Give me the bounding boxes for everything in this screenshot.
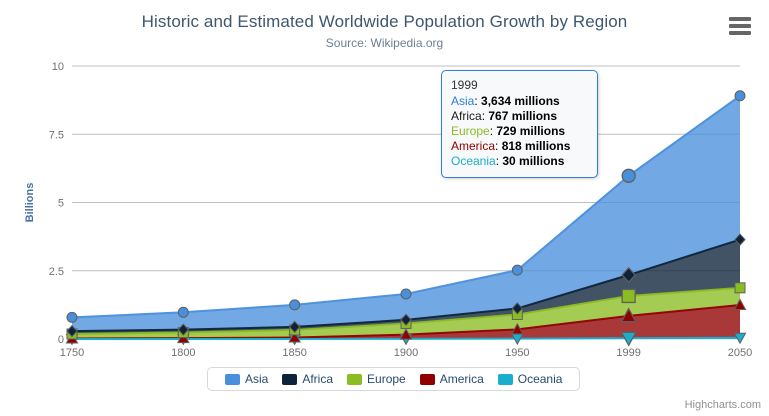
legend-swatch-icon bbox=[420, 374, 435, 385]
x-axis-tick-label: 1800 bbox=[171, 347, 195, 359]
tooltip-series-name: America bbox=[451, 139, 495, 153]
tooltip-row: Oceania: 30 millions bbox=[451, 154, 588, 169]
x-axis-tick-label: 1950 bbox=[505, 347, 529, 359]
legend-item-label: Europe bbox=[367, 372, 406, 386]
tooltip-rows: Asia: 3,634 millionsAfrica: 767 millions… bbox=[451, 94, 588, 169]
data-point-asia-2050[interactable] bbox=[735, 91, 745, 101]
legend-item-label: Asia bbox=[245, 372, 268, 386]
tooltip: 1999 Asia: 3,634 millionsAfrica: 767 mil… bbox=[441, 70, 598, 178]
legend-item-africa[interactable]: Africa bbox=[282, 372, 333, 386]
legend-item-label: Oceania bbox=[518, 372, 563, 386]
y-axis-title: Billions bbox=[24, 183, 36, 223]
x-axis-tick-label: 1750 bbox=[60, 347, 84, 359]
x-axis-tick-label: 1900 bbox=[394, 347, 418, 359]
data-point-europe-1999[interactable] bbox=[622, 289, 635, 302]
y-axis-tick-label: 5 bbox=[58, 198, 64, 210]
legend-swatch-icon bbox=[498, 374, 513, 385]
legend-item-europe[interactable]: Europe bbox=[347, 372, 406, 386]
data-point-europe-2050[interactable] bbox=[735, 283, 745, 293]
y-axis-tick-label: 0 bbox=[58, 334, 64, 346]
tooltip-series-name: Africa bbox=[451, 109, 482, 123]
tooltip-row: Asia: 3,634 millions bbox=[451, 94, 588, 109]
tooltip-value: 767 millions bbox=[488, 109, 557, 123]
data-point-asia-1950[interactable] bbox=[512, 265, 522, 275]
legend-item-label: Africa bbox=[302, 372, 333, 386]
tooltip-value: 818 millions bbox=[502, 139, 571, 153]
tooltip-row: America: 818 millions bbox=[451, 139, 588, 154]
y-axis-tick-label: 10 bbox=[52, 61, 64, 73]
tooltip-value: 30 millions bbox=[502, 154, 564, 168]
tooltip-value: 3,634 millions bbox=[481, 94, 560, 108]
tooltip-separator: : bbox=[474, 94, 481, 108]
highcharts-chart: Historic and Estimated Worldwide Populat… bbox=[0, 0, 769, 416]
series-areas bbox=[72, 96, 740, 339]
tooltip-series-name: Asia bbox=[451, 94, 474, 108]
x-axis-tick-label: 1850 bbox=[282, 347, 306, 359]
legend-swatch-icon bbox=[347, 374, 362, 385]
credits-link[interactable]: Highcharts.com bbox=[685, 399, 761, 411]
legend-item-asia[interactable]: Asia bbox=[225, 372, 268, 386]
plot-area: 02.557.510Billions1750180018501900195019… bbox=[0, 0, 769, 416]
tooltip-row: Africa: 767 millions bbox=[451, 109, 588, 124]
legend-item-america[interactable]: America bbox=[420, 372, 484, 386]
legend-swatch-icon bbox=[225, 374, 240, 385]
x-axis-tick-label: 1999 bbox=[616, 347, 640, 359]
legend-swatch-icon bbox=[282, 374, 297, 385]
y-axis-tick-label: 2.5 bbox=[49, 266, 64, 278]
tooltip-series-name: Europe bbox=[451, 124, 490, 138]
tooltip-series-name: Oceania bbox=[451, 154, 496, 168]
legend-item-label: America bbox=[440, 372, 484, 386]
tooltip-value: 729 millions bbox=[496, 124, 565, 138]
tooltip-separator: : bbox=[495, 139, 502, 153]
data-point-asia-1999[interactable] bbox=[622, 169, 635, 182]
tooltip-row: Europe: 729 millions bbox=[451, 124, 588, 139]
x-axis-tick-label: 2050 bbox=[728, 347, 752, 359]
data-point-asia-1900[interactable] bbox=[401, 289, 411, 299]
chart-legend: AsiaAfricaEuropeAmericaOceania bbox=[207, 367, 580, 391]
tooltip-header: 1999 bbox=[451, 78, 588, 92]
data-point-asia-1850[interactable] bbox=[290, 300, 300, 310]
data-point-asia-1800[interactable] bbox=[178, 307, 188, 317]
y-axis-tick-label: 7.5 bbox=[49, 129, 64, 141]
legend-item-oceania[interactable]: Oceania bbox=[498, 372, 563, 386]
data-point-asia-1750[interactable] bbox=[67, 312, 77, 322]
